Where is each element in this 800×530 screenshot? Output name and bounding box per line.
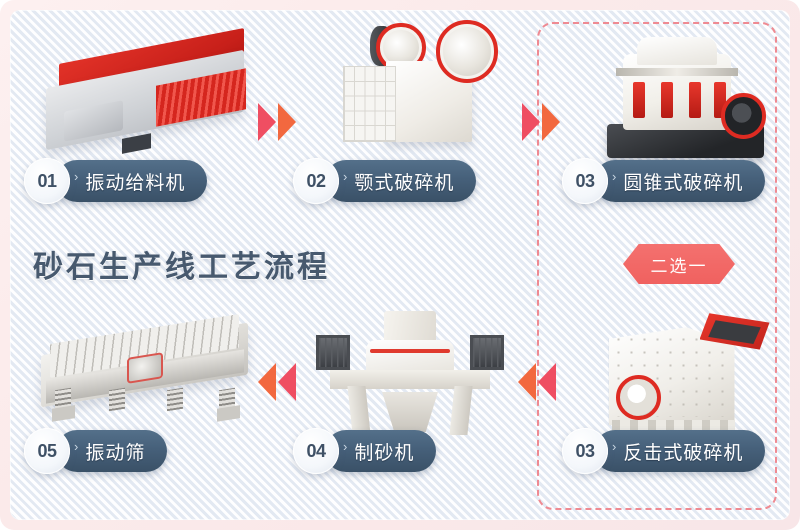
sand-maker-trim-stripe <box>370 349 450 353</box>
arrow-crusher-to-sand-maker <box>518 363 556 401</box>
stage-number-badge-05: 05 <box>24 428 70 474</box>
arrow-chevron-2 <box>278 103 296 141</box>
sand-maker-platform-right <box>470 335 504 370</box>
page-title: 砂石生产线工艺流程 <box>33 242 330 286</box>
impact-flywheel <box>616 375 662 421</box>
cone-hydraulic-cylinder <box>661 82 673 118</box>
stage-label-text-01: 振动给料机 <box>85 168 185 195</box>
stage-name-pill-04[interactable]: › 制砂机 <box>325 430 436 472</box>
stage-label-text-05: 振动筛 <box>85 438 145 465</box>
arrow-sand-maker-to-screen <box>258 363 296 401</box>
arrow-jaw-to-crusher-choice <box>522 103 560 141</box>
sand-maker-platform-left <box>316 335 350 370</box>
stage-label-03-cone[interactable]: 03 › 圆锥式破碎机 <box>562 158 765 204</box>
arrow-feeder-to-jaw <box>258 103 296 141</box>
arrow-chevron-2 <box>278 363 296 401</box>
stage-name-pill-05[interactable]: › 振动筛 <box>56 430 167 472</box>
screen-vibrator-motor <box>127 352 163 384</box>
stage-label-text-03-impact: 反击式破碎机 <box>623 438 743 465</box>
arrow-chevron-2 <box>538 363 556 401</box>
jaw-flywheel-front <box>436 20 499 83</box>
machine-image-vibrating-feeder <box>32 28 257 163</box>
stage-number-badge-01: 01 <box>24 158 70 204</box>
chevron-right-icon: › <box>343 440 347 453</box>
screen-base-foot <box>52 405 75 422</box>
machine-image-sand-making-machine <box>310 308 510 443</box>
machine-image-impact-crusher <box>598 302 773 442</box>
stage-name-pill-01[interactable]: › 振动给料机 <box>56 160 207 202</box>
chevron-right-icon: › <box>612 440 616 453</box>
flowchart-canvas: 01 › 振动给料机 02 › 颚式破碎机 <box>10 10 790 520</box>
stage-name-pill-03-cone[interactable]: › 圆锥式破碎机 <box>594 160 765 202</box>
poster-frame: 01 › 振动给料机 02 › 颚式破碎机 <box>0 0 800 530</box>
screen-spring <box>109 387 125 410</box>
stage-number-badge-03-cone: 03 <box>562 158 608 204</box>
machine-image-cone-crusher <box>598 26 773 166</box>
feeder-support-foot <box>122 133 151 154</box>
chevron-right-icon: › <box>612 170 616 183</box>
stage-label-05[interactable]: 05 › 振动筛 <box>24 428 167 474</box>
jaw-feed-hopper <box>343 66 396 141</box>
screen-spring <box>167 387 183 410</box>
choose-one-badge: 二选一 <box>623 244 735 284</box>
chevron-right-icon: › <box>74 170 78 183</box>
machine-image-jaw-crusher <box>340 20 505 165</box>
stage-label-04[interactable]: 04 › 制砂机 <box>293 428 436 474</box>
arrow-chevron-1 <box>258 103 276 141</box>
sand-maker-discharge-chute <box>382 392 438 433</box>
stage-label-03-impact[interactable]: 03 › 反击式破碎机 <box>562 428 765 474</box>
sand-maker-leg-right <box>449 386 472 435</box>
chevron-right-icon: › <box>74 440 78 453</box>
stage-name-pill-02[interactable]: › 颚式破碎机 <box>325 160 476 202</box>
stage-label-text-02: 颚式破碎机 <box>354 168 454 195</box>
arrow-chevron-1 <box>522 103 540 141</box>
cone-feed-cap <box>637 37 718 65</box>
machine-image-vibrating-screen <box>32 308 257 438</box>
stage-name-pill-03-impact[interactable]: › 反击式破碎机 <box>594 430 765 472</box>
screen-base-foot <box>217 405 240 422</box>
stage-number-badge-04: 04 <box>293 428 339 474</box>
arrow-chevron-2 <box>542 103 560 141</box>
chevron-right-icon: › <box>343 170 347 183</box>
stage-number-badge-03-impact: 03 <box>562 428 608 474</box>
stage-label-text-03-cone: 圆锥式破碎机 <box>623 168 743 195</box>
stage-label-02[interactable]: 02 › 颚式破碎机 <box>293 158 476 204</box>
cone-hydraulic-cylinder <box>633 82 645 118</box>
cone-hydraulic-cylinder <box>689 82 701 118</box>
stage-label-text-04: 制砂机 <box>354 438 414 465</box>
stage-label-01[interactable]: 01 › 振动给料机 <box>24 158 207 204</box>
cone-drive-pulley <box>721 93 767 139</box>
arrow-chevron-1 <box>258 363 276 401</box>
cone-adjustment-ring <box>616 68 739 76</box>
sand-maker-rotor-housing <box>366 340 454 372</box>
arrow-chevron-1 <box>518 363 536 401</box>
stage-number-badge-02: 02 <box>293 158 339 204</box>
